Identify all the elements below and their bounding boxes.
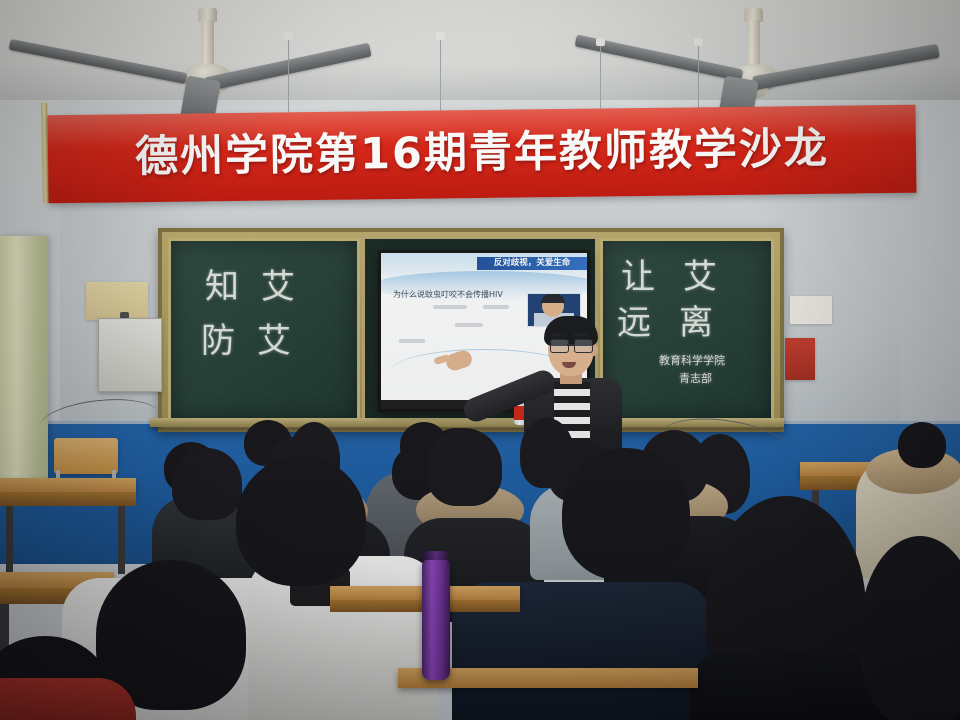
wall-notice-left: [86, 282, 148, 320]
student-head: [172, 448, 242, 520]
chalk-text-let-aids: 让艾: [621, 253, 745, 301]
blackboard-left-panel: 知艾 防艾: [168, 238, 360, 422]
wall-poster-red: [785, 338, 815, 380]
student-head-front: [236, 456, 366, 586]
light-knob: [284, 32, 293, 40]
light-wire: [288, 32, 289, 118]
banner-text: 德州学院第16期青年教师教学沙龙: [48, 113, 917, 186]
light-knob: [596, 38, 605, 46]
slide-title-text: 反对歧视，关爱生命: [477, 257, 587, 270]
water-bottle-purple: [422, 560, 450, 680]
student-head: [426, 428, 502, 506]
chalk-text-prevent-aids: 防艾: [201, 317, 313, 365]
student-body-front: [0, 678, 136, 720]
glasses-icon: [574, 339, 593, 353]
student-head: [898, 422, 946, 468]
fan-rod: [201, 20, 214, 68]
light-knob: [436, 32, 445, 40]
electrical-panel: [98, 318, 162, 392]
slide-body-line: [433, 305, 467, 309]
student-head-front: [562, 448, 690, 580]
glasses-icon: [550, 339, 569, 353]
light-knob: [694, 38, 703, 46]
chalk-text-subdepartment: 青志部: [679, 371, 712, 387]
wall-notice-right: [790, 296, 832, 324]
glasses-bridge: [567, 344, 574, 346]
slide-body-line: [399, 339, 425, 343]
presenter-eyebrow: [551, 333, 567, 336]
event-banner: 德州学院第16期青年教师教学沙龙: [47, 105, 916, 204]
chalk-text-know-aids: 知艾: [205, 263, 317, 311]
light-wire: [698, 38, 699, 118]
presenter-eyebrow: [573, 333, 589, 336]
slide-title-bar: 反对歧视，关爱生命: [477, 257, 587, 270]
light-wire: [440, 32, 441, 118]
classroom-photo: 德州学院第16期青年教师教学沙龙 知艾 防艾 让艾 远离 教育科学学院 青志部 …: [0, 0, 960, 720]
light-wire: [600, 38, 601, 118]
